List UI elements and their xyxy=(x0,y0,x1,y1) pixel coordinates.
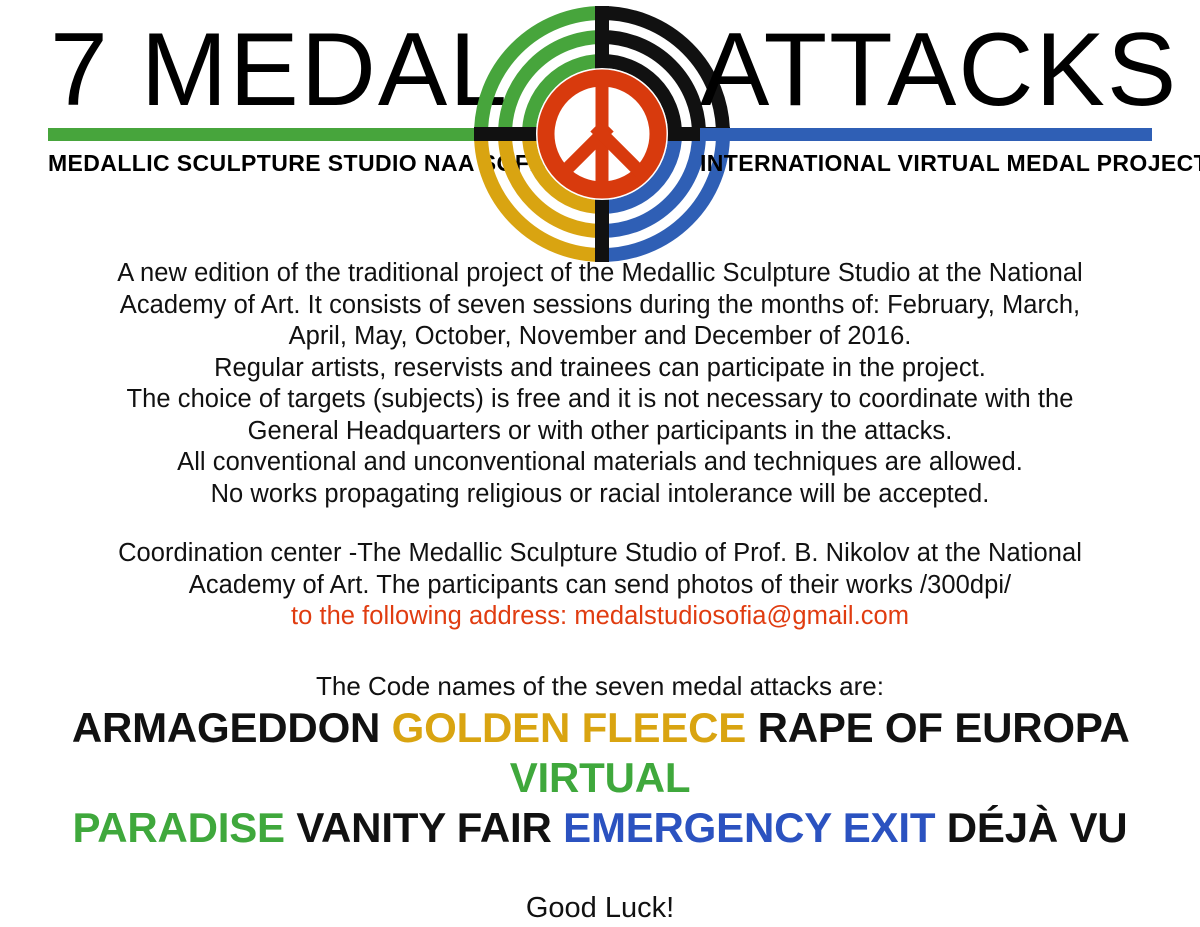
code-name-armageddon: ARMAGEDDON xyxy=(72,704,380,751)
spacer xyxy=(0,633,1200,669)
code-name-vanity-fair: VANITY FAIR xyxy=(296,804,551,851)
code-name-golden-fleece: GOLDEN FLEECE xyxy=(392,704,746,751)
title-left: 7 MEDAL xyxy=(50,16,500,124)
code-name-deja-vu: DÉJÀ VU xyxy=(947,804,1128,851)
poster-header: 7 MEDAL MEDALLIC SCULPTURE STUDIO NAA SO… xyxy=(0,0,1200,262)
code-name-paradise: PARADISE xyxy=(73,804,285,851)
title-right: ATTACKS xyxy=(700,16,1150,124)
wordmark-right: ATTACKS INTERNATIONAL VIRTUAL MEDAL PROJ… xyxy=(700,16,1152,178)
subtitle-left: MEDALLIC SCULPTURE STUDIO NAA SOFIA xyxy=(48,148,500,178)
paragraph-one-line: The choice of targets (subjects) is free… xyxy=(45,384,1155,416)
spacer xyxy=(0,853,1200,889)
paragraph-two-line: Coordination center -The Medallic Sculpt… xyxy=(45,538,1155,570)
paragraph-one-line: A new edition of the traditional project… xyxy=(45,258,1155,290)
code-names-intro: The Code names of the seven medal attack… xyxy=(0,669,1200,703)
paragraph-one-line: Regular artists, reservists and trainees… xyxy=(45,353,1155,385)
code-name-rape-of-europa: RAPE OF EUROPA xyxy=(758,704,1129,751)
paragraph-one: A new edition of the traditional project… xyxy=(45,258,1155,510)
paragraph-one-line: April, May, October, November and Decemb… xyxy=(45,321,1155,353)
code-names-row-1: ARMAGEDDON GOLDEN FLEECE RAPE OF EUROPA … xyxy=(35,703,1165,803)
paragraph-one-line: Academy of Art. It consists of seven ses… xyxy=(45,290,1155,322)
code-names-list: ARMAGEDDON GOLDEN FLEECE RAPE OF EUROPA … xyxy=(35,703,1165,853)
paragraph-two-line: Academy of Art. The participants can sen… xyxy=(45,570,1155,602)
subtitle-right: INTERNATIONAL VIRTUAL MEDAL PROJECT xyxy=(700,148,1152,178)
wordmark-left: 7 MEDAL MEDALLIC SCULPTURE STUDIO NAA SO… xyxy=(48,16,500,178)
rule-right-blue xyxy=(700,128,1152,141)
paragraph-one-line: No works propagating religious or racial… xyxy=(45,479,1155,511)
poster-content: A new edition of the traditional project… xyxy=(0,258,1200,927)
paragraph-one-line: General Headquarters or with other parti… xyxy=(45,416,1155,448)
paragraph-two: Coordination center -The Medallic Sculpt… xyxy=(45,538,1155,633)
spacer xyxy=(0,510,1200,538)
code-names-row-2: PARADISE VANITY FAIR EMERGENCY EXIT DÉJÀ… xyxy=(35,803,1165,853)
contact-email-line[interactable]: to the following address: medalstudiosof… xyxy=(45,601,1155,633)
rule-left-green xyxy=(48,128,500,141)
code-name-virtual: VIRTUAL xyxy=(510,754,691,801)
good-luck-text: Good Luck! xyxy=(0,889,1200,927)
code-name-emergency-exit: EMERGENCY EXIT xyxy=(563,804,935,851)
paragraph-one-line: All conventional and unconventional mate… xyxy=(45,447,1155,479)
target-peace-logo xyxy=(474,6,730,262)
